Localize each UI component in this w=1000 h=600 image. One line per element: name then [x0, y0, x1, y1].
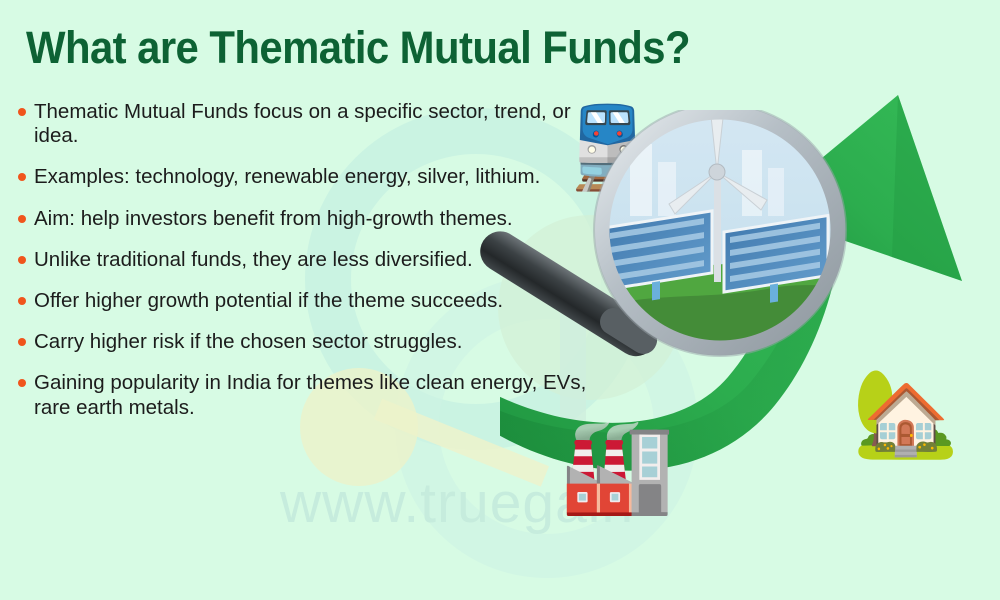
bullet-dot-icon: [18, 338, 26, 346]
list-item: Aim: help investors benefit from high-gr…: [16, 207, 596, 231]
infographic-canvas: www.truegain What are Thematic Mutual Fu…: [0, 0, 1000, 600]
page-title: What are Thematic Mutual Funds?: [26, 22, 690, 74]
farm-house-icon: 🏡: [852, 370, 959, 456]
list-item-text: Carry higher risk if the chosen sector s…: [34, 330, 462, 353]
list-item: Offer higher growth potential if the the…: [16, 289, 596, 313]
list-item: Gaining popularity in India for themes l…: [16, 371, 596, 419]
list-item-text: Aim: help investors benefit from high-gr…: [34, 207, 513, 230]
bullet-dot-icon: [18, 297, 26, 305]
bullet-dot-icon: [18, 215, 26, 223]
list-item-text: Offer higher growth potential if the the…: [34, 289, 503, 312]
list-item-text: Gaining popularity in India for themes l…: [34, 371, 586, 418]
list-item-text: Thematic Mutual Funds focus on a specifi…: [34, 100, 571, 147]
bullet-dot-icon: [18, 379, 26, 387]
bullet-dot-icon: [18, 108, 26, 116]
list-item-text: Examples: technology, renewable energy, …: [34, 165, 540, 188]
list-item: Thematic Mutual Funds focus on a specifi…: [16, 100, 596, 148]
train-icon: 🚆: [558, 108, 658, 188]
list-item: Examples: technology, renewable energy, …: [16, 165, 596, 189]
list-item: Unlike traditional funds, they are less …: [16, 248, 596, 272]
list-item-text: Unlike traditional funds, they are less …: [34, 248, 473, 271]
factory-icon: 🏭: [560, 420, 675, 512]
bullet-dot-icon: [18, 256, 26, 264]
bullet-list: Thematic Mutual Funds focus on a specifi…: [16, 100, 596, 437]
bullet-dot-icon: [18, 173, 26, 181]
list-item: Carry higher risk if the chosen sector s…: [16, 330, 596, 354]
